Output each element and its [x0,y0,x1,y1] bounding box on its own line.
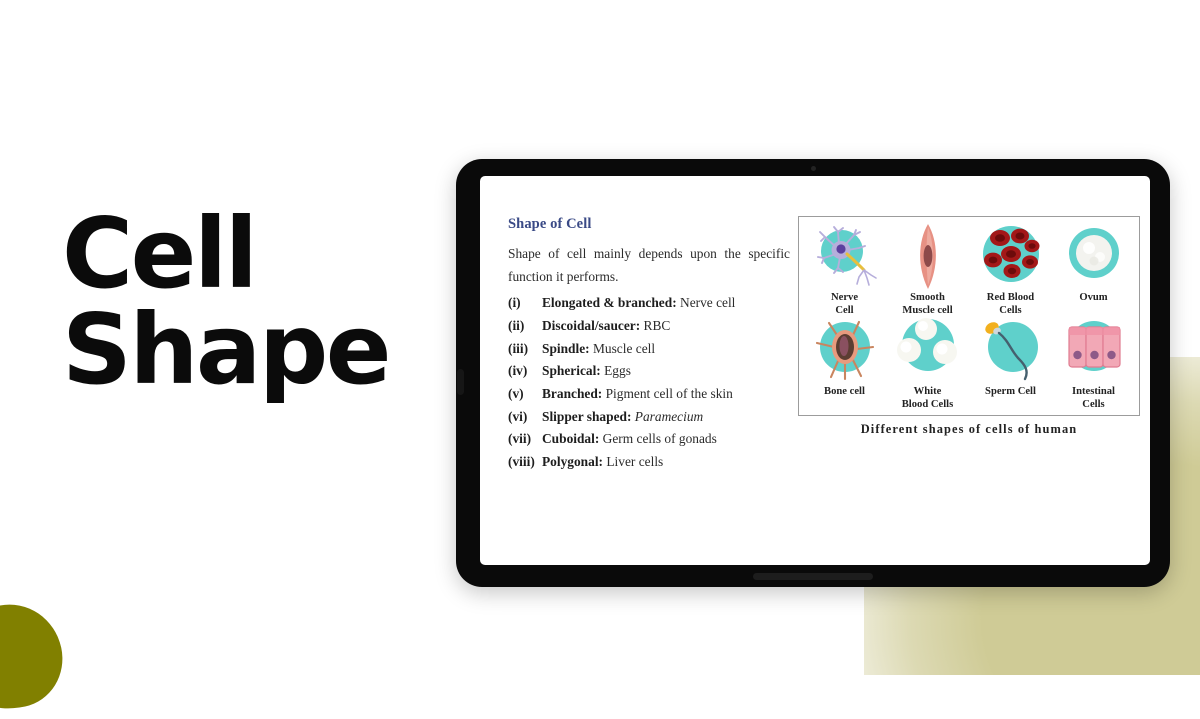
list-item-value: Muscle cell [590,341,655,356]
cell-figure-red-blood-cells: Red Blood Cells [969,223,1052,317]
figure-caption: Different shapes of cells of human [798,422,1140,437]
list-item-term: Slipper shaped: [542,409,631,424]
page-title: Cell Shape [62,206,434,398]
tablet-device: Shape of Cell Shape of cell mainly depen… [456,159,1170,587]
ovum-icon [1058,223,1130,291]
figure-row-bottom: Bone cell White Blood Cells Sperm Cell [803,317,1135,411]
list-item-text: Spindle: Muscle cell [542,338,655,360]
list-item-term: Branched: [542,386,602,401]
tablet-screen: Shape of Cell Shape of cell mainly depen… [480,176,1150,565]
cell-figure-label: Sperm Cell [985,386,1036,399]
list-item: (iii)Spindle: Muscle cell [508,338,792,360]
shape-list: (i)Elongated & branched: Nerve cell(ii)D… [508,292,792,473]
list-item-value: Pigment cell of the skin [602,386,733,401]
list-item-number: (iv) [508,360,542,382]
side-button[interactable] [457,369,464,395]
list-item-value: Paramecium [631,409,703,424]
list-item-value: Nerve cell [677,295,736,310]
cell-figure-label: Bone cell [824,386,865,399]
cell-figure-label: Smooth Muscle cell [902,292,952,317]
list-item-text: Polygonal: Liver cells [542,451,663,473]
figure-row-top: Nerve Cell Smooth Muscle cell Red Blood … [803,223,1135,317]
list-item-number: (v) [508,383,542,405]
list-item-text: Slipper shaped: Paramecium [542,406,703,428]
list-item-number: (iii) [508,338,542,360]
notes-column: Shape of Cell Shape of cell mainly depen… [480,216,792,565]
page-title-line-2: Shape [62,302,434,398]
intestinal-cells-icon [1058,317,1130,385]
list-item-text: Spherical: Eggs [542,360,631,382]
cell-figure-label: Red Blood Cells [987,292,1034,317]
list-item-text: Elongated & branched: Nerve cell [542,292,735,314]
home-indicator[interactable] [753,573,873,580]
cell-figure-label: Nerve Cell [831,292,858,317]
list-item-term: Spherical: [542,363,601,378]
page-title-line-1: Cell [62,206,434,302]
list-item: (v)Branched: Pigment cell of the skin [508,383,792,405]
nerve-cell-icon [809,223,881,291]
cell-figure-intestinal-cells: Intestinal Cells [1052,317,1135,411]
background-olive-blob [0,595,72,719]
list-item-term: Spindle: [542,341,590,356]
list-item: (vii)Cuboidal: Germ cells of gonads [508,428,792,450]
cell-figure-ovum: Ovum [1052,223,1135,305]
list-item-term: Cuboidal: [542,431,599,446]
cell-shapes-figure: Nerve Cell Smooth Muscle cell Red Blood … [792,216,1150,565]
cell-figure-label: Intestinal Cells [1072,386,1115,411]
white-blood-cells-icon [892,317,964,385]
smooth-muscle-cell-icon [892,223,964,291]
list-item-term: Polygonal: [542,454,603,469]
cell-figure-label: Ovum [1079,292,1107,305]
list-item: (i)Elongated & branched: Nerve cell [508,292,792,314]
list-item-value: Eggs [601,363,631,378]
cell-figure-label: White Blood Cells [902,386,954,411]
cell-figure-bone-cell: Bone cell [803,317,886,399]
cell-figure-white-blood-cells: White Blood Cells [886,317,969,411]
list-item-number: (i) [508,292,542,314]
notes-heading: Shape of Cell [508,216,792,233]
notes-intro: Shape of cell mainly depends upon the sp… [508,242,790,288]
list-item: (ii)Discoidal/saucer: RBC [508,315,792,337]
bone-cell-icon [809,317,881,385]
list-item-number: (viii) [508,451,542,473]
figure-frame: Nerve Cell Smooth Muscle cell Red Blood … [798,216,1140,416]
cell-figure-sperm-cell: Sperm Cell [969,317,1052,399]
list-item-number: (ii) [508,315,542,337]
cell-figure-nerve-cell: Nerve Cell [803,223,886,317]
list-item: (iv)Spherical: Eggs [508,360,792,382]
list-item-text: Cuboidal: Germ cells of gonads [542,428,717,450]
list-item-value: Germ cells of gonads [599,431,717,446]
list-item-text: Branched: Pigment cell of the skin [542,383,733,405]
list-item-number: (vii) [508,428,542,450]
list-item-term: Elongated & branched: [542,295,677,310]
list-item-value: Liver cells [603,454,663,469]
list-item: (viii)Polygonal: Liver cells [508,451,792,473]
cell-figure-smooth-muscle-cell: Smooth Muscle cell [886,223,969,317]
camera-icon [811,166,816,171]
list-item-text: Discoidal/saucer: RBC [542,315,670,337]
list-item-value: RBC [640,318,670,333]
list-item: (vi)Slipper shaped: Paramecium [508,406,792,428]
red-blood-cells-icon [975,223,1047,291]
list-item-term: Discoidal/saucer: [542,318,640,333]
sperm-cell-icon [975,317,1047,385]
list-item-number: (vi) [508,406,542,428]
